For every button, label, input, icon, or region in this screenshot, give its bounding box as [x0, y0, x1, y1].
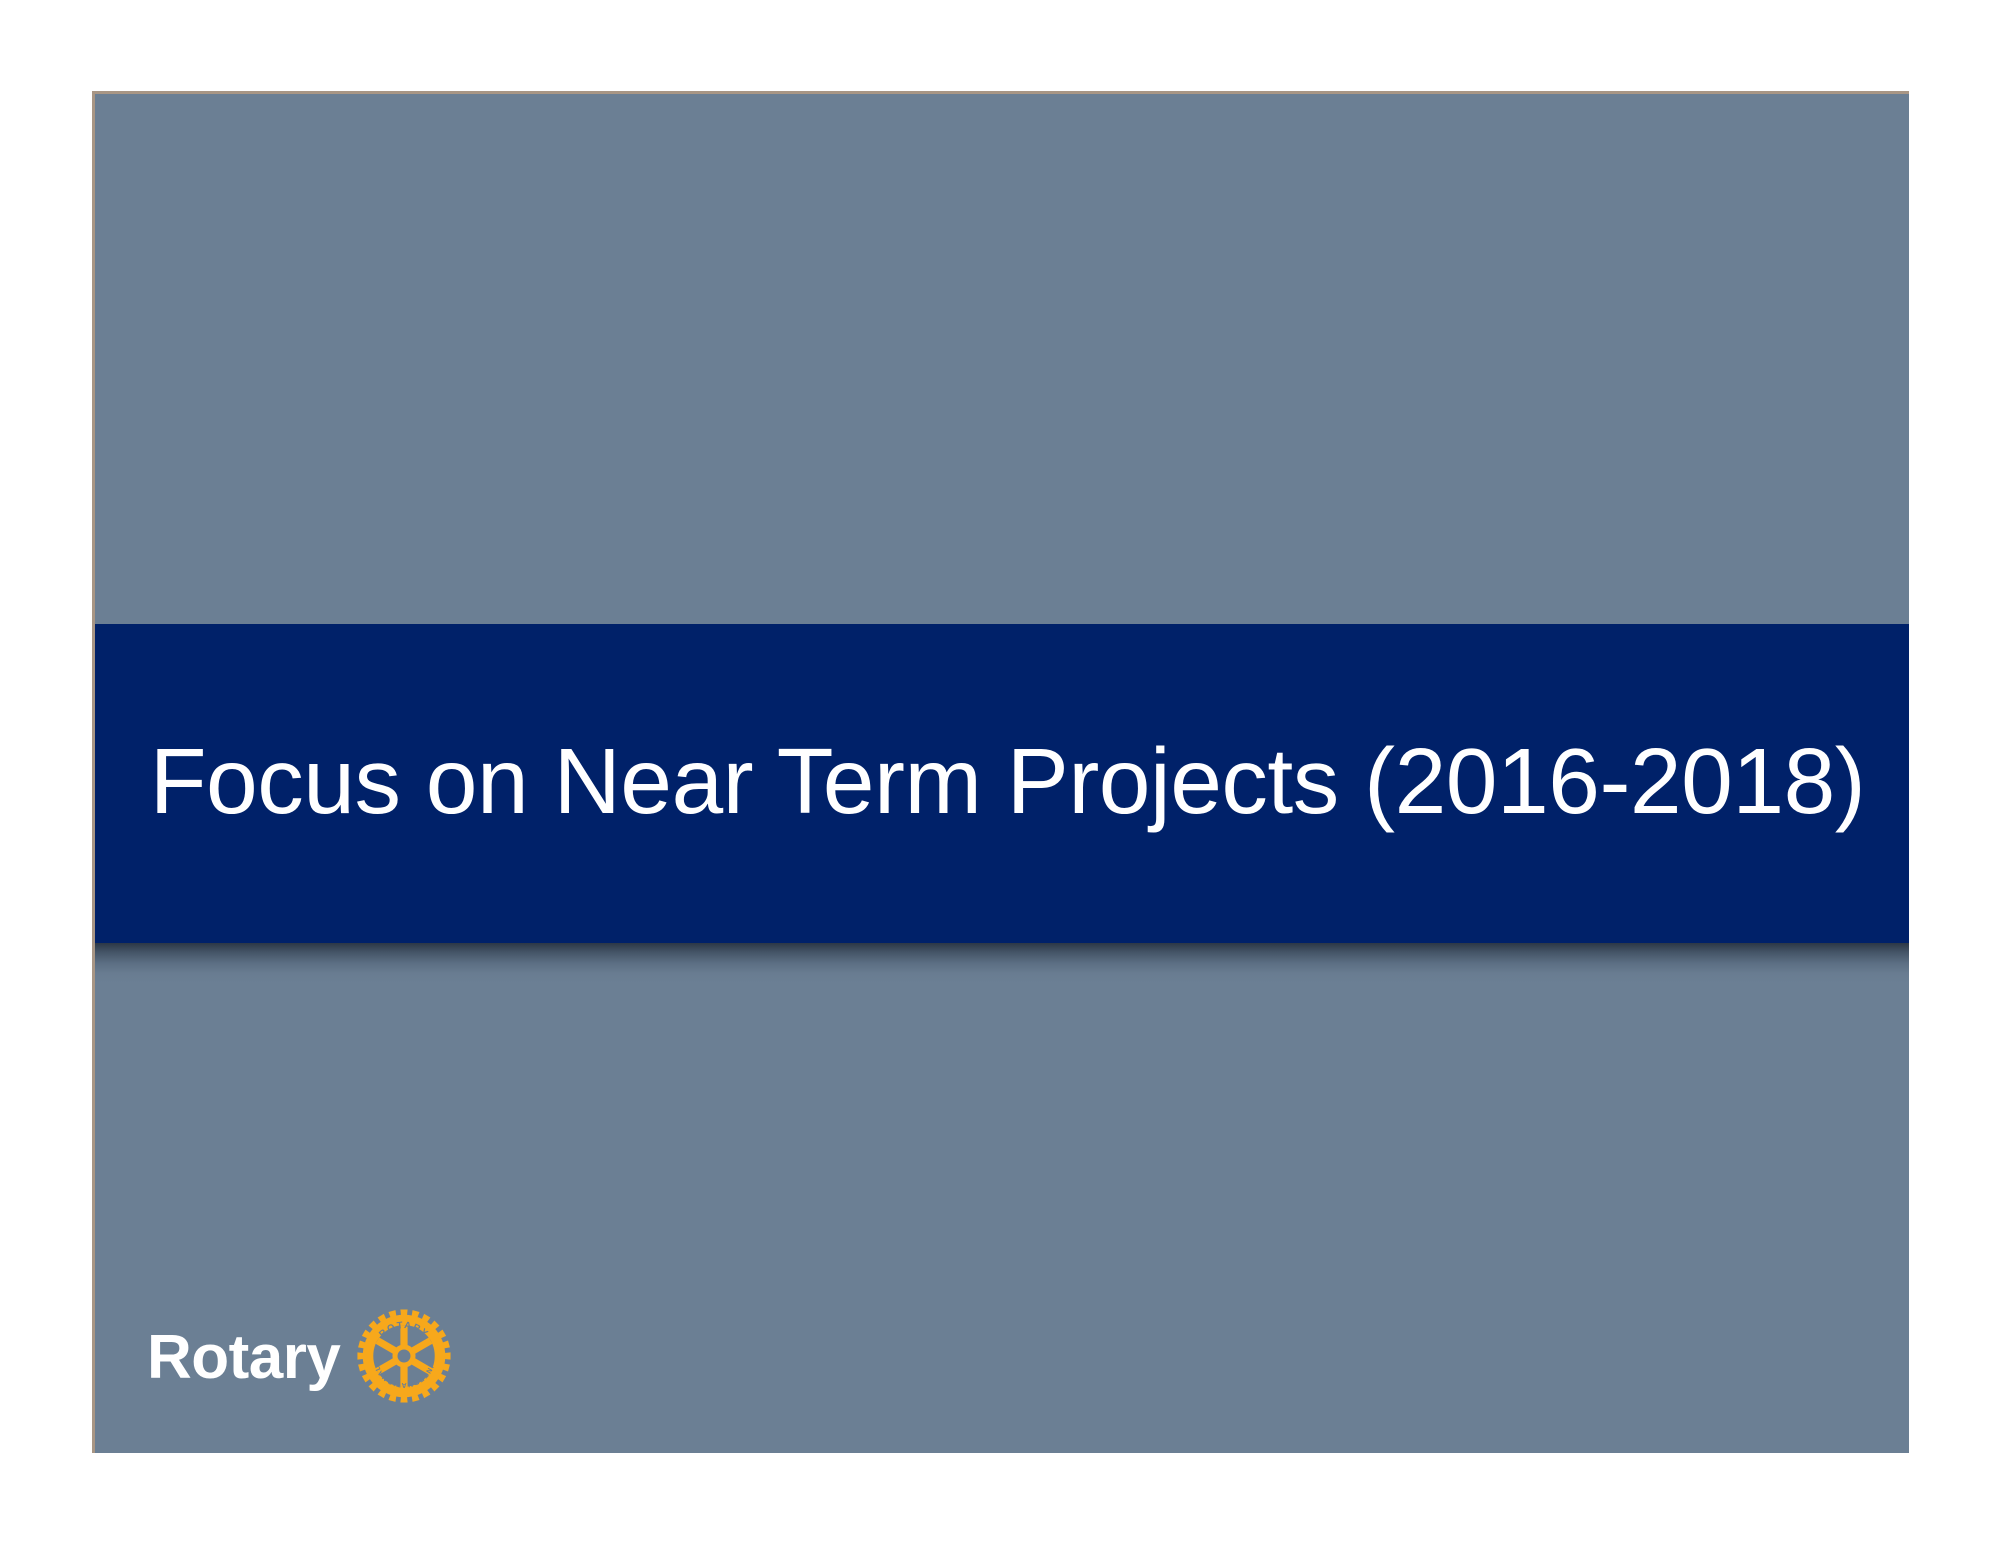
rotary-logo: Rotary [147, 1308, 452, 1404]
rotary-gear-wheel-icon: ROTARY INTERNATIONAL [356, 1308, 452, 1404]
title-band: Focus on Near Term Projects (2016-2018) [95, 624, 1909, 943]
slide-canvas: Focus on Near Term Projects (2016-2018) … [0, 0, 2000, 1545]
slide-title: Focus on Near Term Projects (2016-2018) [150, 733, 1866, 831]
rotary-wordmark: Rotary [147, 1327, 340, 1389]
presentation-slide: Focus on Near Term Projects (2016-2018) … [92, 91, 1909, 1453]
title-band-shadow [95, 943, 1909, 983]
